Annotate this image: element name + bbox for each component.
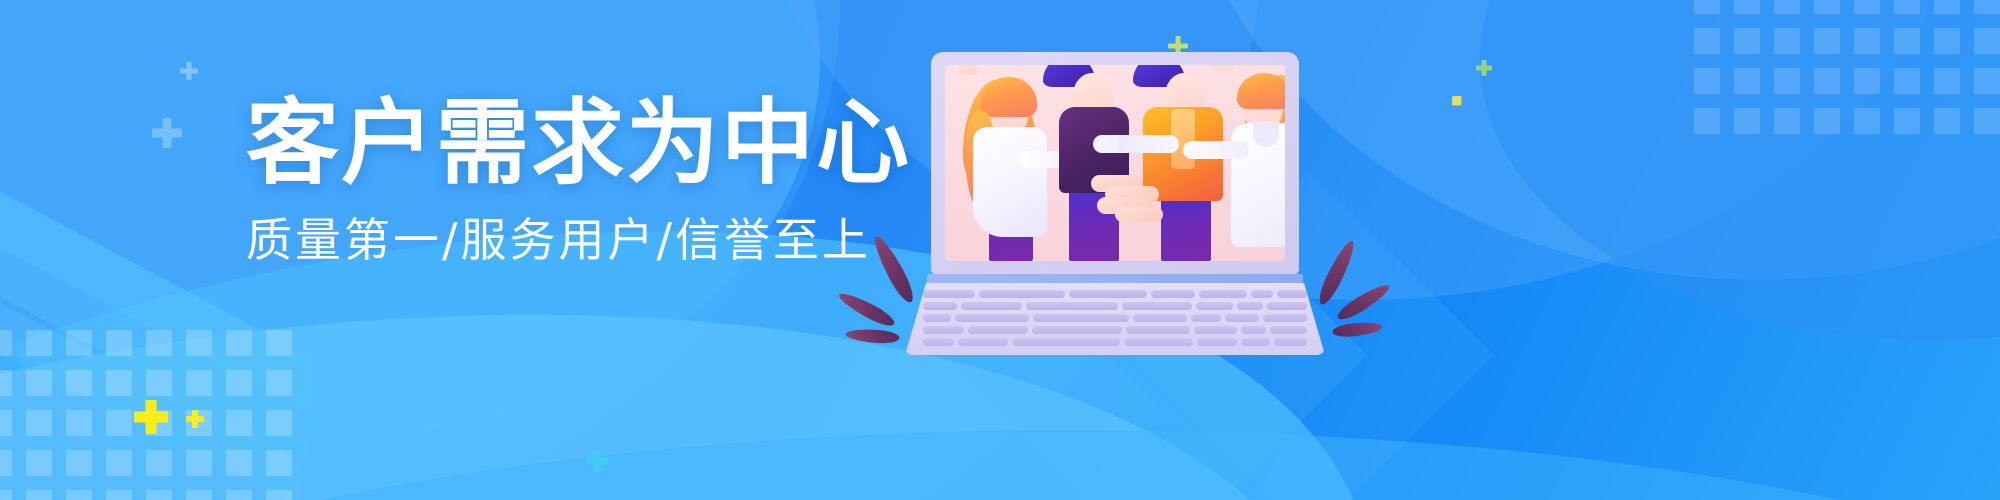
collar (1253, 121, 1279, 147)
person-woman-left (959, 65, 1055, 261)
banner-text-block: 客户需求为中心 质量第一/服务用户/信誉至上 (246, 96, 866, 265)
keyboard-key (1199, 290, 1247, 298)
keyboard-key (923, 326, 964, 334)
keyboard-key (1032, 326, 1123, 334)
plus-icon-cyan-bottom (586, 450, 608, 472)
leaf-icon-left-3 (845, 328, 900, 345)
cardigan (973, 127, 1047, 237)
person-woman-right (1213, 65, 1285, 261)
arm (1183, 141, 1249, 159)
foot (1213, 65, 1233, 71)
background-wave-right-3 (1480, 0, 2000, 340)
keyboard-key (1194, 326, 1237, 334)
keyboard-key (1270, 326, 1307, 334)
keyboard-key (1241, 326, 1266, 334)
leaf-icon-left-1 (869, 233, 918, 306)
keyboard-key (968, 326, 1028, 334)
keyboard-key (923, 314, 951, 322)
keyboard-key (1026, 302, 1119, 310)
laptop-teamwork-illustration (905, 52, 1325, 352)
keyboard-key (1012, 338, 1120, 346)
keyboard-key (1124, 338, 1193, 346)
keyboard-key (1241, 338, 1270, 346)
keyboard-key (1151, 290, 1195, 298)
laptop-base (905, 283, 1325, 355)
arm (1117, 135, 1179, 153)
square-grid-top-right (1694, 0, 2000, 134)
keyboard-key (923, 338, 954, 346)
keyboard-key (1191, 314, 1221, 322)
keyboard-row (923, 314, 1307, 322)
keyboard-row (923, 302, 1307, 310)
banner-subline: 质量第一/服务用户/信誉至上 (246, 215, 866, 266)
promo-banner: 客户需求为中心 质量第一/服务用户/信誉至上 (0, 0, 2000, 500)
keyboard-key (1225, 314, 1259, 322)
hand-4 (1115, 207, 1163, 222)
keyboard-row (923, 338, 1307, 346)
person-man-dark-shirt (1043, 65, 1139, 261)
plus-icon-white-small (180, 62, 198, 80)
keyboard-key (979, 290, 1065, 298)
laptop-screen (945, 65, 1285, 261)
keyboard-key (1197, 338, 1237, 346)
keyboard-key (958, 338, 1008, 346)
plus-icon-yellow-dot (1452, 96, 1461, 105)
keyboard-key (1196, 302, 1232, 310)
keyboard-key (1133, 314, 1187, 322)
plus-icon-lime-topright (1476, 60, 1492, 76)
foot (959, 65, 979, 75)
keyboard-key (1274, 338, 1307, 346)
keyboard-row (923, 290, 1307, 298)
keyboard-key (923, 290, 975, 298)
leaf-icon-left-2 (836, 289, 897, 330)
laptop-keyboard (923, 290, 1307, 346)
laptop-lid (931, 52, 1299, 274)
keyboard-key (961, 302, 1021, 310)
keyboard-key (1069, 290, 1147, 298)
banner-headline: 客户需求为中心 (246, 96, 866, 191)
keyboard-key (1237, 302, 1263, 310)
stacked-hands-group (1091, 173, 1177, 219)
keyboard-key (923, 302, 957, 310)
hair-front-icon (1237, 73, 1285, 109)
keyboard-key (1126, 326, 1190, 334)
plus-icon-white-large (152, 118, 182, 148)
keyboard-key (1263, 314, 1307, 322)
hair-front-icon (981, 77, 1037, 117)
keyboard-key (1267, 302, 1307, 310)
keyboard-key (1251, 290, 1273, 298)
keyboard-key (1033, 314, 1129, 322)
keyboard-key (955, 314, 1029, 322)
keyboard-key (1122, 302, 1192, 310)
keyboard-key (1277, 290, 1307, 298)
keyboard-row (923, 326, 1307, 334)
